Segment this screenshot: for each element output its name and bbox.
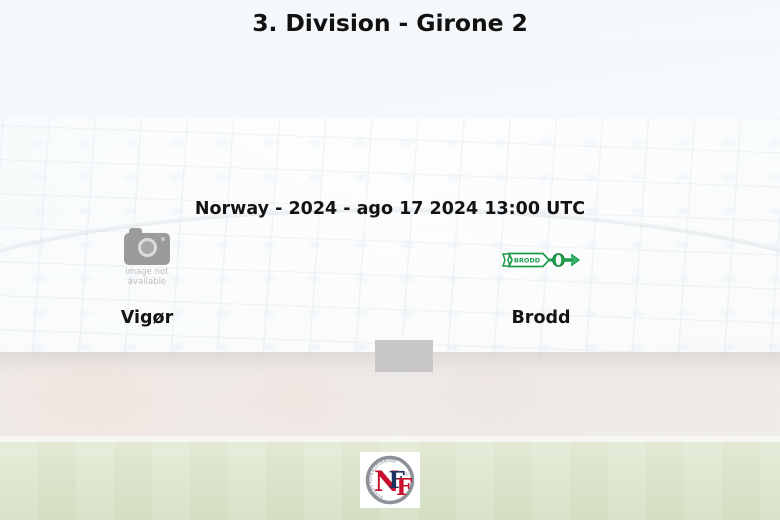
brodd-crest-icon: BRODD — [501, 247, 581, 273]
home-team-block: image not available Vigør — [27, 232, 267, 328]
camera-shutter-dot — [161, 237, 165, 241]
camera-icon — [124, 233, 170, 265]
score-placeholder-panel — [375, 340, 433, 372]
away-crest-slot: BRODD — [421, 232, 661, 288]
federation-badge: NORGES FOTBALLFORBUND 1902 N F F — [360, 452, 420, 508]
home-crest-slot: image not available — [27, 232, 267, 288]
away-team-block: BRODD Brodd — [421, 232, 661, 328]
away-team-name: Brodd — [421, 308, 661, 328]
match-preview-screen: 3. Division - Girone 2 Norway - 2024 - a… — [0, 0, 780, 520]
broken-image-label: image not available — [125, 268, 168, 287]
match-preview-content: 3. Division - Girone 2 Norway - 2024 - a… — [0, 0, 780, 520]
nff-federation-logo: NORGES FOTBALLFORBUND 1902 N F F — [365, 455, 415, 505]
page-title: 3. Division - Girone 2 — [0, 9, 780, 37]
home-team-name: Vigør — [27, 308, 267, 328]
match-meta-line: Norway - 2024 - ago 17 2024 13:00 UTC — [0, 199, 780, 219]
broken-image-icon: image not available — [115, 232, 179, 288]
svg-text:F: F — [396, 474, 413, 501]
svg-text:BRODD: BRODD — [514, 257, 541, 265]
